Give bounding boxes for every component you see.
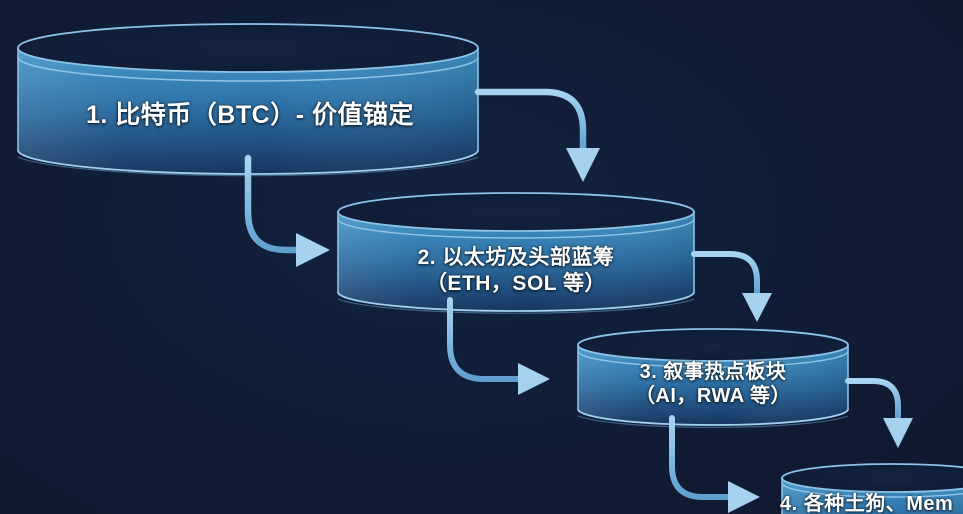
- connector-2-bottom-to-3-left: [450, 300, 550, 395]
- cylinder-layer-1[interactable]: [18, 24, 478, 176]
- connector-arrowhead: [742, 293, 772, 322]
- connector-arrowhead: [566, 148, 600, 182]
- diagram-canvas: 1. 比特币（BTC）- 价值锚定 2. 以太坊及头部蓝筹 （ETH，SOL 等…: [0, 0, 963, 514]
- connector-line: [478, 92, 583, 152]
- connector-3-bottom-to-4-left: [672, 418, 760, 513]
- cylinder-layer-2[interactable]: [338, 193, 694, 313]
- connector-line: [694, 254, 757, 296]
- connector-line: [672, 418, 728, 497]
- cylinder-layer-3[interactable]: [578, 329, 848, 427]
- connector-2-right-to-3-top: [694, 254, 772, 322]
- connector-arrowhead: [883, 418, 913, 448]
- connector-line: [848, 381, 898, 420]
- connector-1-right-to-2-top: [478, 92, 600, 182]
- connector-arrowhead: [728, 481, 760, 513]
- cylinder-layer-4[interactable]: [782, 464, 963, 514]
- diagram-vector-layer: [0, 0, 963, 514]
- connector-arrowhead: [296, 233, 330, 267]
- connector-arrowhead: [518, 363, 550, 395]
- connector-3-right-to-4-top: [848, 381, 913, 448]
